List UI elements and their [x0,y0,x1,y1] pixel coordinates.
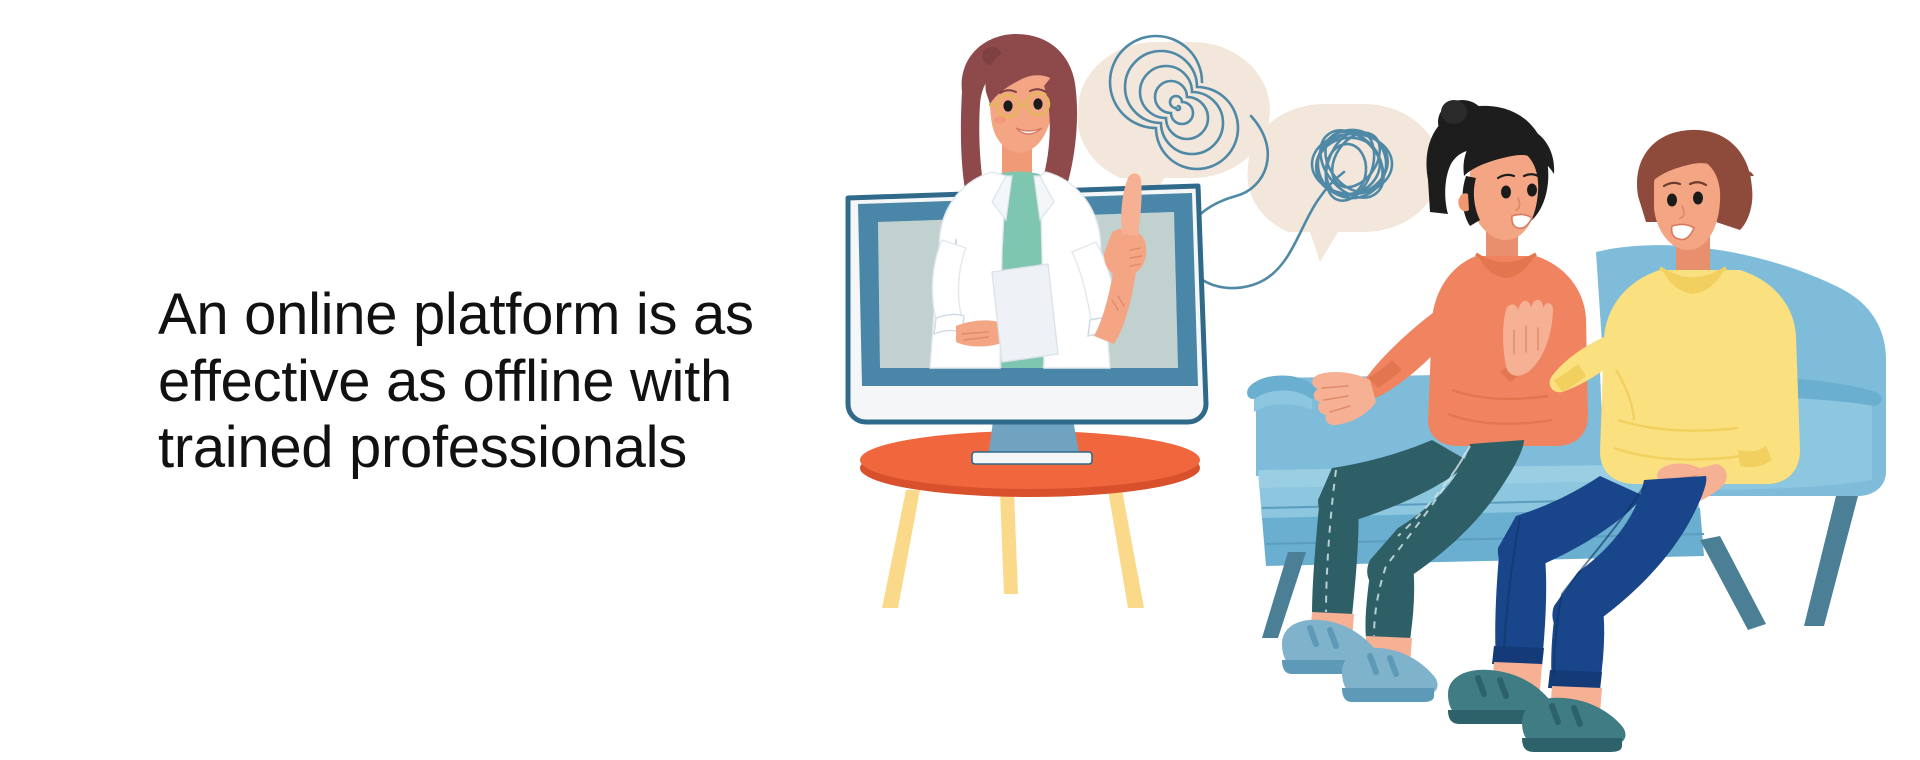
shoe-right [1342,648,1438,702]
sofa [1247,245,1886,638]
page-headline: An online platform is as effective as of… [158,282,878,482]
shoe-left [1448,670,1552,724]
thought-bubble-tangle [1247,104,1440,262]
client-man [1448,130,1800,752]
shoe-right [1522,698,1626,752]
monitor [848,186,1206,464]
therapist [930,34,1146,368]
thought-thread [1184,116,1344,288]
client-woman [1282,100,1588,702]
page-canvas: An online platform is as effective as of… [0,0,1920,760]
shoe-left [1282,620,1378,674]
thought-bubble-spiral [1078,36,1270,208]
coffee-table [860,431,1200,608]
